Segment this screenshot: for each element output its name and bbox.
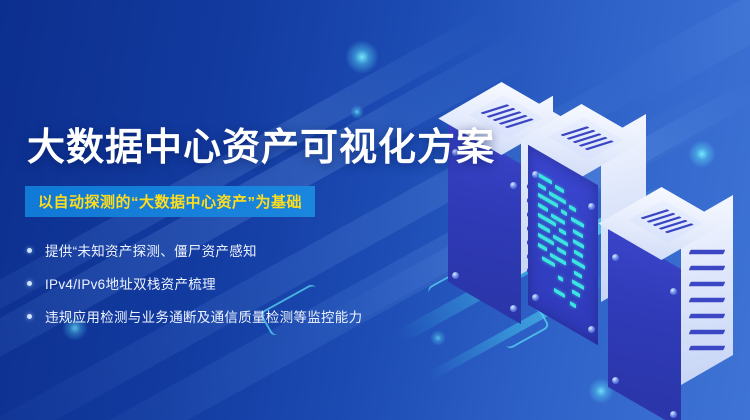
list-item-label: 提供“未知资产探测、僵尸资产感知	[45, 240, 257, 260]
rack-screw	[532, 171, 539, 178]
banner-text-column: 大数据中心资产可视化方案 以自动探测的“大数据中心资产”为基础 提供“未知资产探…	[0, 0, 460, 420]
list-item-label: 违规应用检测与业务通断及通信质量检测等监控能力	[45, 306, 362, 326]
bullet-dot-icon	[27, 314, 32, 319]
list-item: IPv4/IPv6地址双栈资产梳理	[27, 269, 362, 297]
rack-screw	[532, 294, 539, 301]
rack-screw	[670, 288, 677, 295]
rack-screw	[612, 254, 619, 261]
isometric-server-racks-illustration	[440, 55, 750, 405]
rack-screw	[588, 326, 595, 333]
rack-screw	[670, 411, 677, 418]
rack-middle-top-panel	[549, 117, 623, 160]
rack-right-top-panel	[629, 200, 703, 243]
list-item: 提供“未知资产探测、僵尸资产感知	[27, 236, 362, 264]
banner-title: 大数据中心资产可视化方案	[27, 124, 495, 172]
banner-subtitle-bar: 以自动探测的“大数据中心资产”为基础	[25, 186, 315, 217]
rack-screw	[510, 305, 517, 312]
bullet-dot-icon	[27, 281, 32, 286]
rack-screw	[510, 182, 517, 189]
banner-feature-list: 提供“未知资产探测、僵尸资产感知 IPv4/IPv6地址双栈资产梳理 违规应用检…	[27, 236, 362, 335]
marketing-banner: 大数据中心资产可视化方案 以自动探测的“大数据中心资产”为基础 提供“未知资产探…	[0, 0, 750, 420]
list-item: 违规应用检测与业务通断及通信质量检测等监控能力	[27, 302, 362, 330]
list-item-label: IPv4/IPv6地址双栈资产梳理	[45, 273, 216, 293]
bullet-dot-icon	[27, 248, 32, 253]
rack-screw	[612, 377, 619, 384]
banner-subtitle-text: 以自动探测的“大数据中心资产”为基础	[38, 191, 302, 212]
rack-screw	[588, 203, 595, 210]
